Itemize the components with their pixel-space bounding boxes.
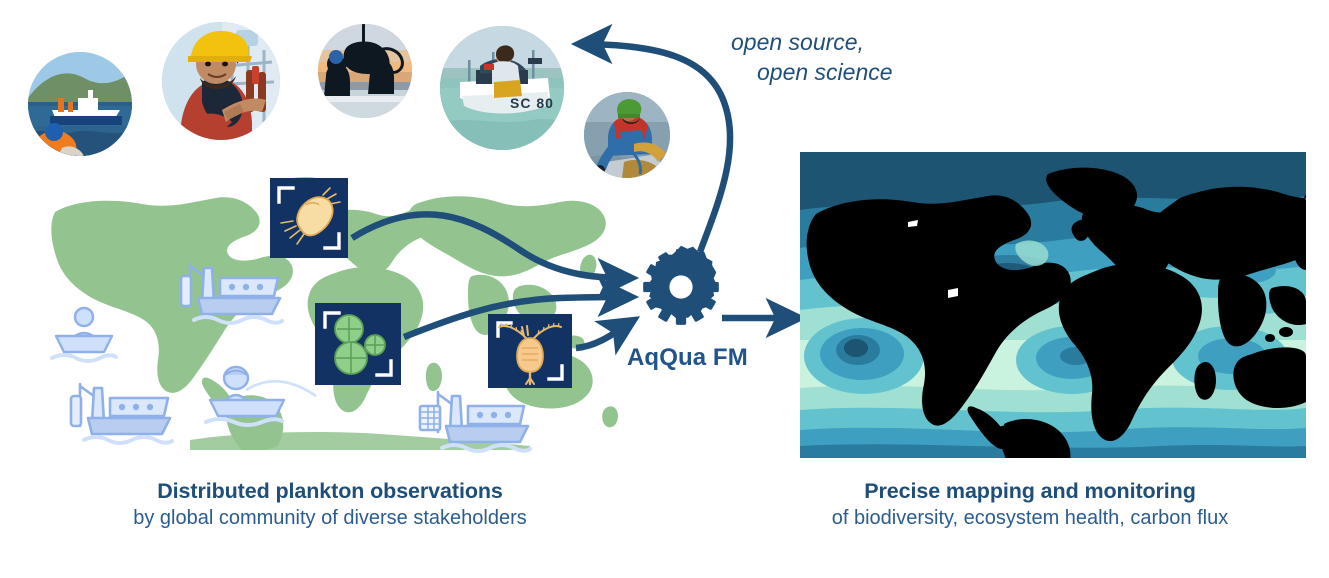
svg-text:SC 80: SC 80 — [510, 95, 554, 111]
photo-ctd-deployment-sunset — [318, 24, 412, 118]
feedback-line-1: open source, — [731, 29, 864, 55]
plankton-tile-copepod-antennae[interactable] — [488, 314, 572, 388]
plankton-tile-green-algae[interactable] — [315, 303, 401, 385]
global-ocean-product-map[interactable] — [800, 152, 1306, 458]
right-caption-sub: of biodiversity, ecosystem health, carbo… — [740, 506, 1320, 532]
research-vessel-north-atlantic — [168, 248, 286, 336]
rowboat-citizen-scientist — [44, 304, 122, 368]
model-label: AqQua FM — [627, 344, 748, 372]
photo-diver-green-beanie — [584, 92, 670, 178]
figure-canvas: SC 80 — [0, 0, 1329, 578]
right-caption: Precise mapping and monitoring of biodiv… — [740, 478, 1320, 531]
left-caption-title: Distributed plankton observations — [20, 478, 640, 506]
feedback-label: open source, open science — [731, 27, 893, 88]
photo-small-boat-sc80: SC 80 — [440, 26, 564, 150]
left-caption: Distributed plankton observations by glo… — [20, 478, 640, 531]
right-caption-title: Precise mapping and monitoring — [740, 478, 1320, 506]
feedback-line-2: open science — [731, 57, 893, 87]
photo-scientist-hardhat — [162, 22, 280, 140]
plankton-tile-copepod-side[interactable] — [270, 178, 348, 258]
research-vessel-indian-ocean — [408, 378, 534, 464]
research-vessel-south-atlantic — [58, 368, 176, 456]
fishing-boat-with-angler — [198, 356, 328, 440]
left-caption-sub: by global community of diverse stakehold… — [20, 506, 640, 532]
gear-icon[interactable] — [638, 244, 724, 330]
photo-research-vessel-fjord — [28, 52, 132, 156]
